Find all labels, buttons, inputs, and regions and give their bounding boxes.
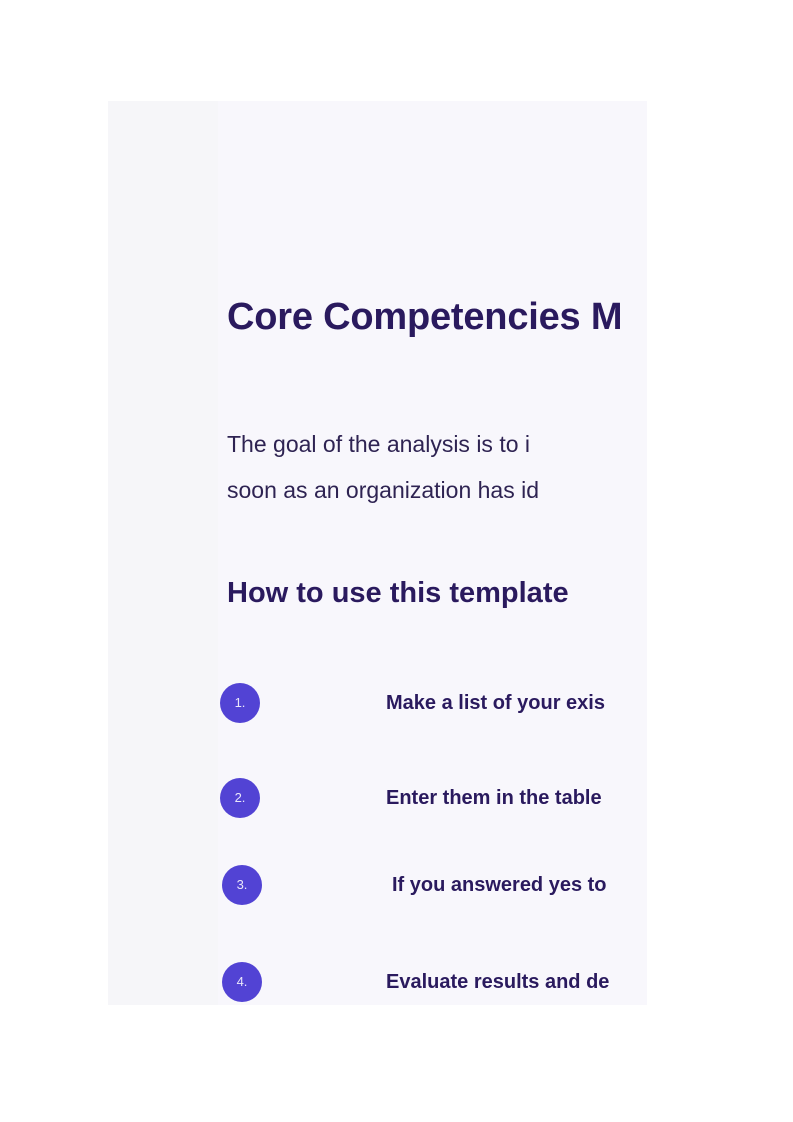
step-number-badge: 1. — [220, 683, 260, 723]
step-text: If you answered yes to — [392, 865, 607, 905]
document-page: Core Competencies M The goal of the anal… — [108, 101, 647, 1005]
list-item: 3. If you answered yes to — [108, 865, 647, 921]
step-number-badge: 2. — [220, 778, 260, 818]
step-number-badge: 3. — [222, 865, 262, 905]
step-text: Evaluate results and de — [386, 962, 609, 1002]
list-item: 1. Make a list of your exis — [108, 683, 647, 739]
section-heading-how-to-use: How to use this template — [227, 573, 647, 613]
intro-paragraph-line: soon as an organization has id — [227, 467, 647, 513]
document-body: Core Competencies M The goal of the anal… — [108, 101, 647, 1005]
intro-paragraph-line: The goal of the analysis is to i — [227, 421, 647, 467]
step-number-badge: 4. — [222, 962, 262, 1002]
list-item: 2. Enter them in the table — [108, 778, 647, 834]
step-text: Make a list of your exis — [386, 683, 605, 723]
intro-paragraph: The goal of the analysis is to i soon as… — [227, 421, 647, 513]
list-item: 4. Evaluate results and de — [108, 962, 647, 1005]
step-text: Enter them in the table — [386, 778, 602, 818]
page-title: Core Competencies M — [227, 294, 647, 340]
